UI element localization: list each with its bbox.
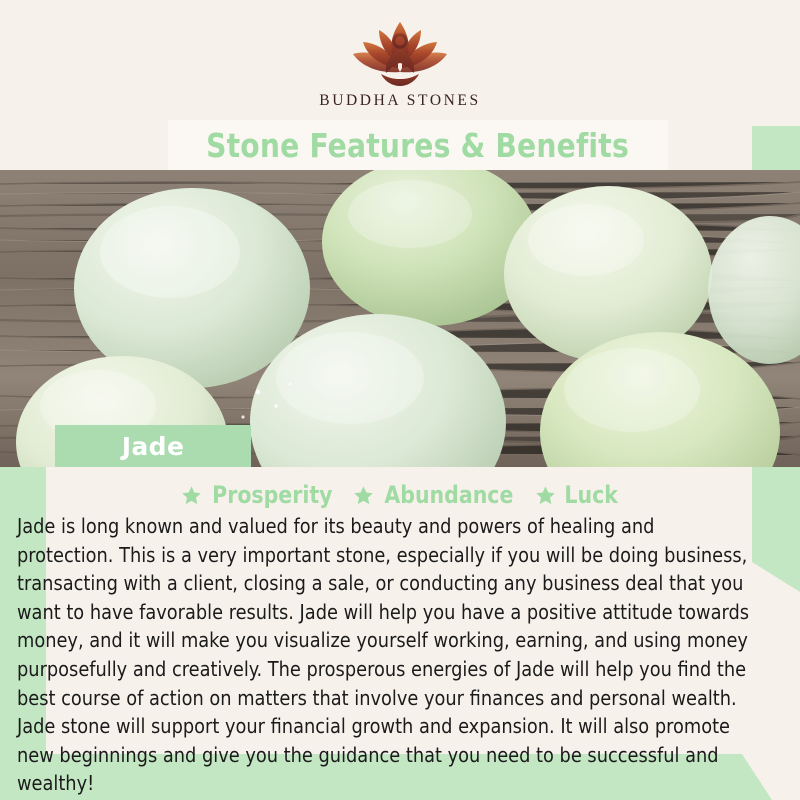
benefit-label: Luck bbox=[565, 481, 618, 509]
benefit-item: Abundance bbox=[353, 481, 517, 509]
stone-name-label: Jade bbox=[122, 432, 185, 461]
page-content: BUDDHA STONES bbox=[0, 0, 800, 800]
lotus-meditation-icon bbox=[341, 16, 459, 88]
star-icon bbox=[535, 485, 556, 506]
benefit-label: Abundance bbox=[385, 481, 514, 509]
star-icon bbox=[181, 485, 202, 506]
brand-wordmark: BUDDHA STONES bbox=[319, 92, 480, 110]
star-icon bbox=[353, 485, 374, 506]
page-title: Stone Features & Benefits bbox=[207, 126, 630, 165]
benefits-row: Prosperity Abundance Luck bbox=[0, 479, 800, 511]
brand-header: BUDDHA STONES bbox=[0, 0, 800, 126]
hero-photo bbox=[0, 170, 800, 467]
title-banner: Stone Features & Benefits bbox=[168, 120, 668, 170]
description-block: Jade is long known and valued for its be… bbox=[17, 512, 783, 798]
benefit-label: Prosperity bbox=[212, 481, 332, 509]
benefit-item: Prosperity bbox=[181, 481, 336, 509]
benefit-item: Luck bbox=[535, 481, 619, 509]
stone-name-badge: Jade bbox=[55, 425, 251, 467]
description-text: Jade is long known and valued for its be… bbox=[17, 512, 752, 798]
